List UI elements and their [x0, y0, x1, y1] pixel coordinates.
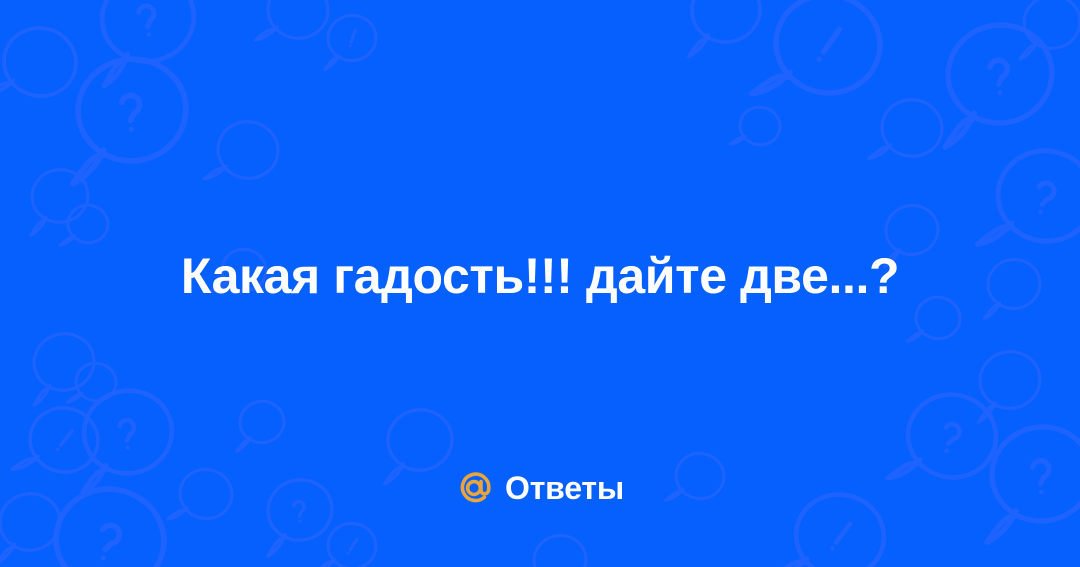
brand-lockup[interactable]: Ответы [0, 470, 1080, 506]
answers-share-card: Какая гадость!!! дайте две...? Ответы [0, 0, 1080, 567]
page-title: Какая гадость!!! дайте две...? [40, 248, 1040, 304]
brand-name: Ответы [505, 470, 624, 506]
title-block: Какая гадость!!! дайте две...? [0, 248, 1080, 304]
card-content: Какая гадость!!! дайте две...? Ответы [0, 0, 1080, 567]
at-sign-icon [456, 470, 492, 506]
